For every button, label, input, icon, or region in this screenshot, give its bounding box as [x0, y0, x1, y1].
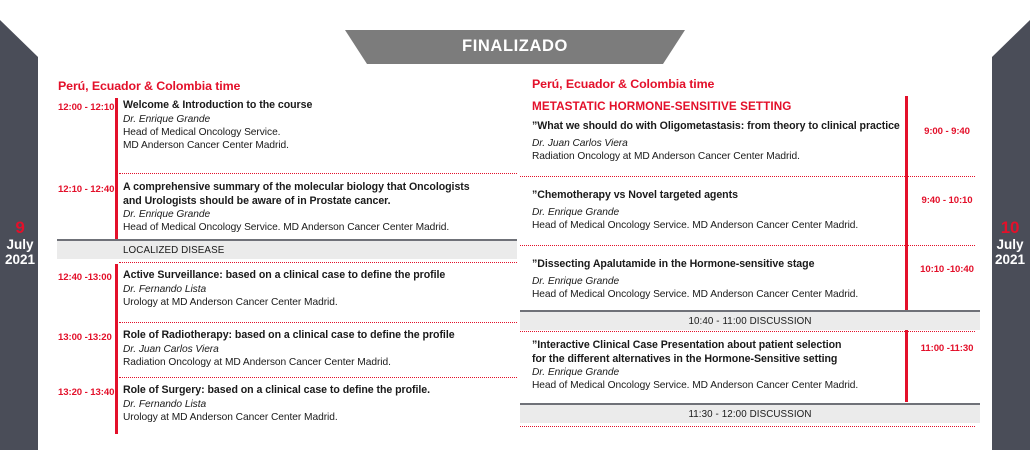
timezone-label-day2: Perú, Ecuador & Colombia time	[532, 77, 714, 91]
session-title: ”Dissecting Apalutamide in the Hormone-s…	[532, 258, 904, 272]
session-separator	[520, 426, 975, 427]
session-speaker: Dr. Enrique Grande	[123, 113, 523, 126]
session-affiliation: Head of Medical Oncology Service. MD And…	[532, 288, 904, 301]
discussion-bar: 10:40 - 11:00 DISCUSSION	[520, 310, 980, 330]
session-speaker: Dr. Enrique Grande	[532, 206, 904, 219]
session-separator	[119, 173, 517, 174]
session-body: A comprehensive summary of the molecular…	[123, 181, 523, 235]
status-badge: FINALIZADO	[345, 30, 685, 64]
session-affiliation: Urology at MD Anderson Cancer Center Mad…	[123, 296, 523, 309]
date-panel-day1-text: 9 July 2021	[0, 218, 40, 267]
session-separator	[119, 322, 517, 323]
session-row[interactable]: 12:40 -13:00 Active Surveillance: based …	[57, 268, 517, 318]
session-affiliation: Radiation Oncology at MD Anderson Cancer…	[532, 150, 904, 163]
discussion-bar: 11:30 - 12:00 DISCUSSION	[520, 403, 980, 423]
session-time: 9:00 - 9:40	[912, 126, 982, 137]
session-row[interactable]: 9:00 - 9:40 ”What we should do with Olig…	[520, 119, 980, 169]
session-title: ”Chemotherapy vs Novel targeted agents	[532, 189, 904, 203]
session-separator	[520, 245, 975, 246]
session-row[interactable]: 9:40 - 10:10 ”Chemotherapy vs Novel targ…	[520, 188, 980, 238]
timezone-label-day1: Perú, Ecuador & Colombia time	[58, 79, 240, 93]
session-body: ”What we should do with Oligometastasis:…	[532, 120, 904, 163]
session-row[interactable]: 12:10 - 12:40 A comprehensive summary of…	[57, 180, 517, 238]
section-banner-label: LOCALIZED DISEASE	[123, 245, 224, 256]
discussion-label: 11:30 - 12:00 DISCUSSION	[688, 409, 811, 420]
session-title: ”What we should do with Oligometastasis:…	[532, 120, 904, 134]
session-affiliation: Urology at MD Anderson Cancer Center Mad…	[123, 411, 523, 424]
date-day: 10	[990, 218, 1030, 237]
session-body: Welcome & Introduction to the course Dr.…	[123, 99, 523, 152]
session-row[interactable]: 11:00 -11:30 ”Interactive Clinical Case …	[520, 338, 980, 398]
session-row[interactable]: 13:00 -13:20 Role of Radiotherapy: based…	[57, 328, 517, 378]
session-affiliation: Radiation Oncology at MD Anderson Cancer…	[123, 356, 523, 369]
discussion-label: 10:40 - 11:00 DISCUSSION	[688, 316, 811, 327]
session-speaker: Dr. Juan Carlos Viera	[532, 137, 904, 150]
date-day: 9	[0, 218, 40, 237]
session-title: Welcome & Introduction to the course	[123, 99, 523, 113]
session-affiliation: Head of Medical Oncology Service. MD And…	[532, 219, 904, 232]
session-row[interactable]: 13:20 - 13:40 Role of Surgery: based on …	[57, 383, 517, 433]
session-separator	[520, 176, 975, 177]
session-affiliation: Head of Medical Oncology Service.	[123, 126, 523, 139]
session-body: ”Chemotherapy vs Novel targeted agents D…	[532, 189, 904, 232]
session-affiliation: Head of Medical Oncology Service. MD And…	[532, 379, 904, 392]
section-heading-metastatic: METASTATIC HORMONE-SENSITIVE SETTING	[532, 100, 791, 113]
session-title: Active Surveillance: based on a clinical…	[123, 269, 523, 283]
date-year: 2021	[0, 252, 40, 267]
date-panel-day1: 9 July 2021	[0, 0, 63, 450]
session-speaker: Dr. Enrique Grande	[532, 366, 904, 379]
session-title: ”Interactive Clinical Case Presentation …	[532, 339, 904, 353]
session-speaker: Dr. Fernando Lista	[123, 283, 523, 296]
session-time: 10:10 -10:40	[912, 264, 982, 275]
date-year: 2021	[990, 252, 1030, 267]
section-banner: LOCALIZED DISEASE	[57, 239, 517, 259]
date-month: July	[0, 237, 40, 252]
session-row[interactable]: 12:00 - 12:10 Welcome & Introduction to …	[57, 98, 517, 168]
session-separator	[119, 377, 517, 378]
date-month: July	[990, 237, 1030, 252]
session-title: and Urologists should be aware of in Pro…	[123, 195, 523, 209]
session-row[interactable]: 10:10 -10:40 ”Dissecting Apalutamide in …	[520, 257, 980, 307]
session-body: ”Interactive Clinical Case Presentation …	[532, 339, 904, 393]
session-title: Role of Surgery: based on a clinical cas…	[123, 384, 523, 398]
session-separator	[520, 331, 975, 332]
session-body: Role of Surgery: based on a clinical cas…	[123, 384, 523, 424]
session-affiliation: Head of Medical Oncology Service. MD And…	[123, 221, 523, 234]
session-speaker: Dr. Fernando Lista	[123, 398, 523, 411]
session-time: 9:40 - 10:10	[912, 195, 982, 206]
session-body: Role of Radiotherapy: based on a clinica…	[123, 329, 523, 369]
session-speaker: Dr. Enrique Grande	[123, 208, 523, 221]
session-title: for the different alternatives in the Ho…	[532, 353, 904, 367]
session-separator	[119, 262, 517, 263]
session-speaker: Dr. Enrique Grande	[532, 275, 904, 288]
session-title: A comprehensive summary of the molecular…	[123, 181, 523, 195]
session-affiliation: MD Anderson Cancer Center Madrid.	[123, 139, 523, 152]
session-title: Role of Radiotherapy: based on a clinica…	[123, 329, 523, 343]
date-panel-day2-text: 10 July 2021	[990, 218, 1030, 267]
session-speaker: Dr. Juan Carlos Viera	[123, 343, 523, 356]
session-body: Active Surveillance: based on a clinical…	[123, 269, 523, 309]
session-body: ”Dissecting Apalutamide in the Hormone-s…	[532, 258, 904, 301]
session-time: 11:00 -11:30	[912, 343, 982, 354]
